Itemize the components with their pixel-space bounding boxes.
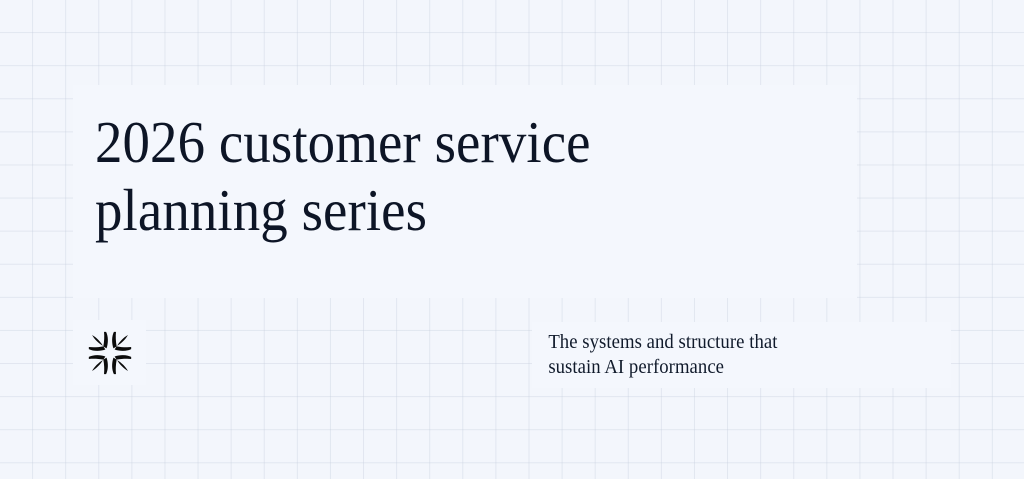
converging-arrows-logo-icon: [87, 330, 133, 376]
logo-panel: [73, 320, 146, 385]
page-title: 2026 customer service planning series: [95, 108, 746, 244]
slide-canvas: 2026 customer service planning series: [0, 0, 1024, 479]
subtitle-panel: The systems and structure that sustain A…: [532, 322, 951, 388]
subtitle-text: The systems and structure that sustain A…: [532, 330, 777, 380]
